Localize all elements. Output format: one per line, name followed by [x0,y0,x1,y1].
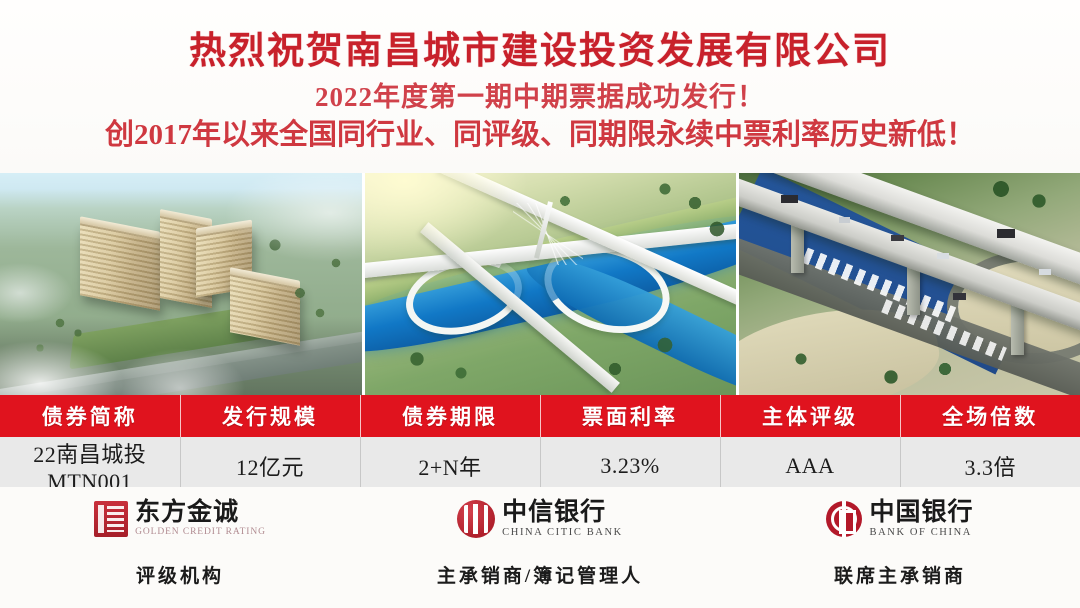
footer-institutions: 东方金诚 GOLDEN CREDIT RATING 评级机构 中信银行 CHIN… [0,487,1080,608]
logo-name-en: GOLDEN CREDIT RATING [135,528,266,538]
photo-aerial-residential-towers [0,173,362,395]
photo-river-interchange-bridge [362,173,736,395]
tree-cluster-layer [739,173,1080,395]
boc-coin-icon [826,501,862,537]
bond-summary-table: 债券简称 发行规模 债券期限 票面利率 主体评级 全场倍数 22南昌城投MTN0… [0,395,1080,495]
logo-name-en: BANK OF CHINA [869,528,971,539]
institution-role-label: 联席主承销商 [834,561,966,588]
column-header-issue-size: 发行规模 [180,395,360,437]
logo-bank-of-china: 中国银行 BANK OF CHINA [826,497,973,541]
sun-glow-layer [365,173,736,395]
institution-role-label: 主承销商/簿记管理人 [437,561,643,588]
headline-line-2: 2022年度第一期中期票据成功发行！ [0,83,1080,111]
logo-name-cn: 中信银行 [502,500,606,525]
table-header-row: 债券简称 发行规模 债券期限 票面利率 主体评级 全场倍数 [0,395,1080,437]
headline-line-1: 热烈祝贺南昌城市建设投资发展有限公司 [0,33,1080,72]
bond-issuance-poster: 热烈祝贺南昌城市建设投资发展有限公司 2022年度第一期中期票据成功发行！ 创2… [0,0,1080,608]
logo-text: 东方金诚 GOLDEN CREDIT RATING [135,500,266,538]
column-header-bond-tenor: 债券期限 [360,395,540,437]
institution-lead-underwriter: 中信银行 CHINA CITIC BANK 主承销商/簿记管理人 [360,487,720,608]
logo-china-citic-bank: 中信银行 CHINA CITIC BANK [457,497,623,541]
photo-elevated-viaduct-roundabout [736,173,1080,395]
institution-role-label: 评级机构 [136,561,224,588]
column-header-issuer-rating: 主体评级 [720,395,900,437]
haze-layer [0,173,362,395]
logo-name-en: CHINA CITIC BANK [502,528,623,539]
institution-rating-agency: 东方金诚 GOLDEN CREDIT RATING 评级机构 [0,487,360,608]
bond-summary-table-wrap: 债券简称 发行规模 债券期限 票面利率 主体评级 全场倍数 22南昌城投MTN0… [0,395,1080,495]
institution-joint-underwriter: 中国银行 BANK OF CHINA 联席主承销商 [720,487,1080,608]
column-header-subscription-multiple: 全场倍数 [900,395,1080,437]
logo-text: 中国银行 BANK OF CHINA [869,500,973,539]
logo-golden-credit: 东方金诚 GOLDEN CREDIT RATING [94,497,266,541]
citic-circle-icon [457,500,495,538]
golden-credit-seal-icon [94,501,128,537]
project-photo-strip [0,173,1080,395]
logo-text: 中信银行 CHINA CITIC BANK [502,500,623,539]
headline-block: 热烈祝贺南昌城市建设投资发展有限公司 2022年度第一期中期票据成功发行！ 创2… [0,0,1080,173]
logo-name-cn: 东方金诚 [135,500,239,525]
boc-center-bar [842,501,846,537]
headline-line-3: 创2017年以来全国同行业、同评级、同期限永续中票利率历史新低！ [0,120,1080,150]
column-header-bond-name: 债券简称 [0,395,180,437]
column-header-coupon-rate: 票面利率 [540,395,720,437]
logo-name-cn: 中国银行 [869,500,973,525]
